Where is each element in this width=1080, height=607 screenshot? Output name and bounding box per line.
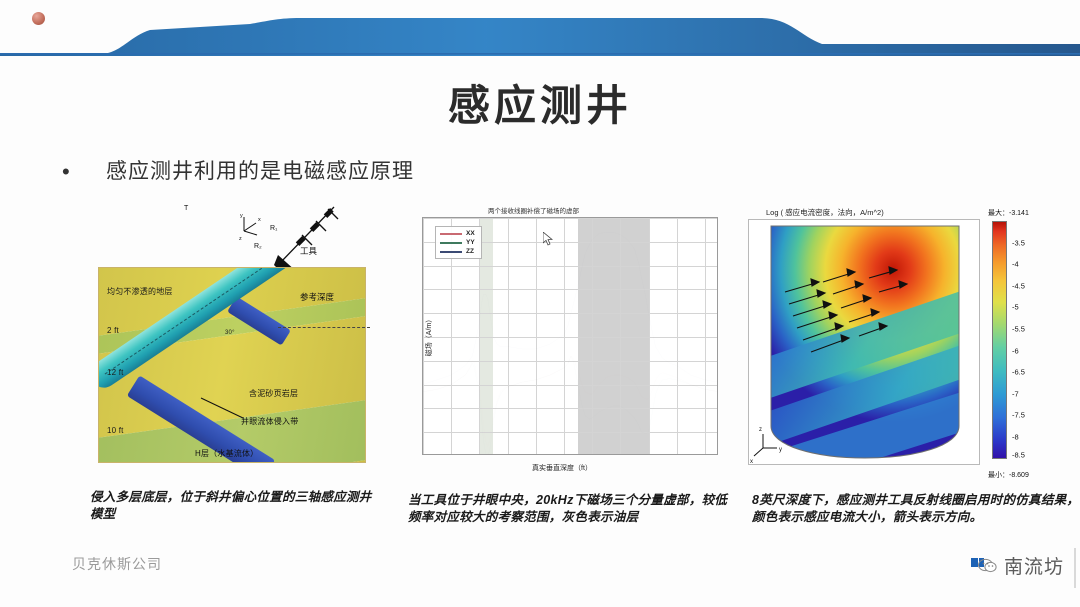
colorbar-tick: -5.5	[1012, 325, 1025, 334]
legend-item-yy: YY	[440, 239, 475, 246]
legend-item-xx: XX	[440, 230, 475, 237]
colorbar-tick: -8	[1012, 433, 1019, 442]
watermark: 南流坊	[971, 552, 1064, 579]
legend-label-zz: ZZ	[466, 248, 474, 255]
svg-text:y: y	[779, 447, 782, 453]
heatmap-title: Log ( 感应电流密度，法向，A/m^2)	[766, 207, 884, 218]
figure-formation-model: y x z T 工具 R₁ R₂ 均匀不渗透的地层 2	[88, 205, 374, 475]
tool-sketch-icon: y x z	[238, 205, 368, 275]
label-12ft: 12 ft	[107, 368, 124, 377]
bullet-text: 感应测井利用的是电磁感应原理	[106, 158, 414, 186]
plot-legend: XX YY ZZ	[435, 226, 482, 259]
caption-formation-model: 侵入多层底层，位于斜井偏心位置的三轴感应测井模型	[90, 489, 380, 523]
banner-dot-icon	[32, 12, 45, 25]
heatmap-panel: z y x	[748, 219, 980, 465]
mouse-cursor-icon	[543, 232, 553, 246]
tool-label-receiver-1: R₁	[270, 225, 277, 232]
legend-label-xx: XX	[466, 230, 475, 237]
caption-magnetic-field-plot: 当工具位于井眼中央，20kHz下磁场三个分量虚部，较低频率对应较大的考察范围，灰…	[408, 492, 738, 526]
figure-magnetic-field-plot: 两个接收线圈补偿了磁场的虚部	[392, 205, 732, 480]
bullet-row: • 感应测井利用的是电磁感应原理	[62, 158, 414, 186]
svg-text:x: x	[750, 459, 753, 465]
plot-ylabel: 磁场（A/m）	[424, 316, 434, 356]
tool-label: 工具	[300, 245, 317, 257]
label-10ft: 10 ft	[107, 426, 124, 435]
series-yy-line	[423, 356, 718, 455]
plot-area: XX YY ZZ 0.8 0.7	[422, 217, 718, 455]
svg-text:z: z	[239, 236, 242, 242]
plot-title: 两个接收线圈补偿了磁场的虚部	[488, 205, 579, 215]
slide-banner	[0, 0, 1080, 62]
label-shaly-sand: 含泥砂页岩层	[249, 388, 298, 399]
svg-text:x: x	[258, 217, 261, 223]
colorbar-min-label: 最小：-8.609	[988, 470, 1029, 480]
label-2ft: 2 ft	[107, 326, 119, 335]
svg-text:z: z	[759, 427, 762, 433]
colorbar-tick: -7.5	[1012, 411, 1025, 420]
bullet-marker-icon: •	[62, 158, 106, 186]
heatmap-surface: z y x	[749, 220, 980, 465]
colorbar-gradient	[992, 221, 1007, 459]
label-invasion-zone: 井眼流体侵入带	[241, 416, 298, 427]
invasion-leader-line	[199, 396, 245, 422]
tool-label-transmitter: T	[184, 205, 188, 212]
colorbar-tick: -3.5	[1012, 238, 1025, 247]
label-h-layer: H层（水基流体）	[195, 448, 258, 459]
colorbar-tick: -5	[1012, 303, 1019, 312]
colorbar-tick: -6.5	[1012, 368, 1025, 377]
wechat-icon	[971, 556, 997, 576]
legend-item-zz: ZZ	[440, 248, 475, 255]
legend-swatch-yy	[440, 242, 462, 244]
colorbar-tick: -6	[1012, 346, 1019, 355]
colorbar-max-label: 最大：-3.141	[988, 208, 1029, 218]
caption-current-density-3d: 8英尺深度下，感应测井工具反射线圈启用时的仿真结果，颜色表示感应电流大小，箭头表…	[752, 492, 1080, 526]
footer-source: 贝克休斯公司	[72, 554, 162, 574]
colorbar-tick: -8.5	[1012, 451, 1025, 460]
colorbar-tick: -7	[1012, 389, 1019, 398]
legend-swatch-xx	[440, 233, 462, 235]
banner-swoosh-shape	[0, 0, 1080, 62]
colorbar-tick: -4	[1012, 260, 1019, 269]
label-dip-angle: 30°	[225, 330, 235, 336]
series-xx-line	[423, 356, 718, 446]
watermark-text: 南流坊	[1004, 552, 1064, 579]
reference-depth-line	[278, 327, 370, 328]
svg-text:y: y	[240, 213, 243, 219]
figure-current-density-3d: Log ( 感应电流密度，法向，A/m^2)	[748, 205, 1078, 480]
axis-triad-icon	[754, 434, 777, 456]
page-title: 感应测井	[0, 72, 1080, 133]
watermark-divider	[1074, 548, 1076, 588]
legend-swatch-zz	[440, 251, 462, 253]
slide: 感应测井 • 感应测井利用的是电磁感应原理	[0, 0, 1080, 607]
tool-label-receiver-2: R₂	[254, 243, 262, 250]
plot-xlabel: 真实垂直深度（ft）	[532, 463, 592, 473]
colorbar: 最大：-3.141 -3.5 -4 -4.5 -5 -5.5 -6 -6.5 -…	[988, 219, 1074, 469]
label-reference-depth: 参考深度	[300, 291, 334, 303]
label-uniform-layer: 均匀不渗透的地层	[107, 286, 173, 297]
colorbar-tick: -4.5	[1012, 281, 1025, 290]
legend-label-yy: YY	[466, 239, 475, 246]
